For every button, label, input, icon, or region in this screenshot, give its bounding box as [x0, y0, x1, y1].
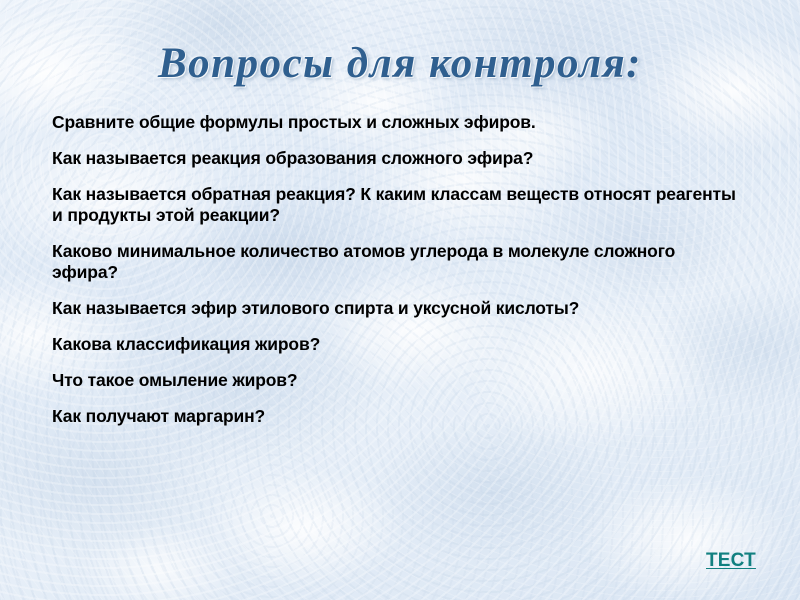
- slide-canvas: Вопросы для контроля: Сравните общие фор…: [0, 0, 800, 600]
- page-title: Вопросы для контроля:: [0, 38, 800, 90]
- list-item: Как называется обратная реакция? К каким…: [52, 184, 742, 226]
- list-item: Какова классификация жиров?: [52, 334, 752, 355]
- test-hyperlink[interactable]: ТЕСТ: [706, 550, 756, 572]
- list-item: Как получают маргарин?: [52, 406, 752, 427]
- list-item: Сравните общие формулы простых и сложных…: [52, 112, 752, 133]
- list-item: Как называется эфир этилового спирта и у…: [52, 298, 752, 319]
- list-item: Как называется реакция образования сложн…: [52, 148, 752, 169]
- questions-list: Сравните общие формулы простых и сложных…: [52, 112, 752, 427]
- list-item: Что такое омыление жиров?: [52, 370, 752, 391]
- list-item: Каково минимальное количество атомов угл…: [52, 241, 742, 283]
